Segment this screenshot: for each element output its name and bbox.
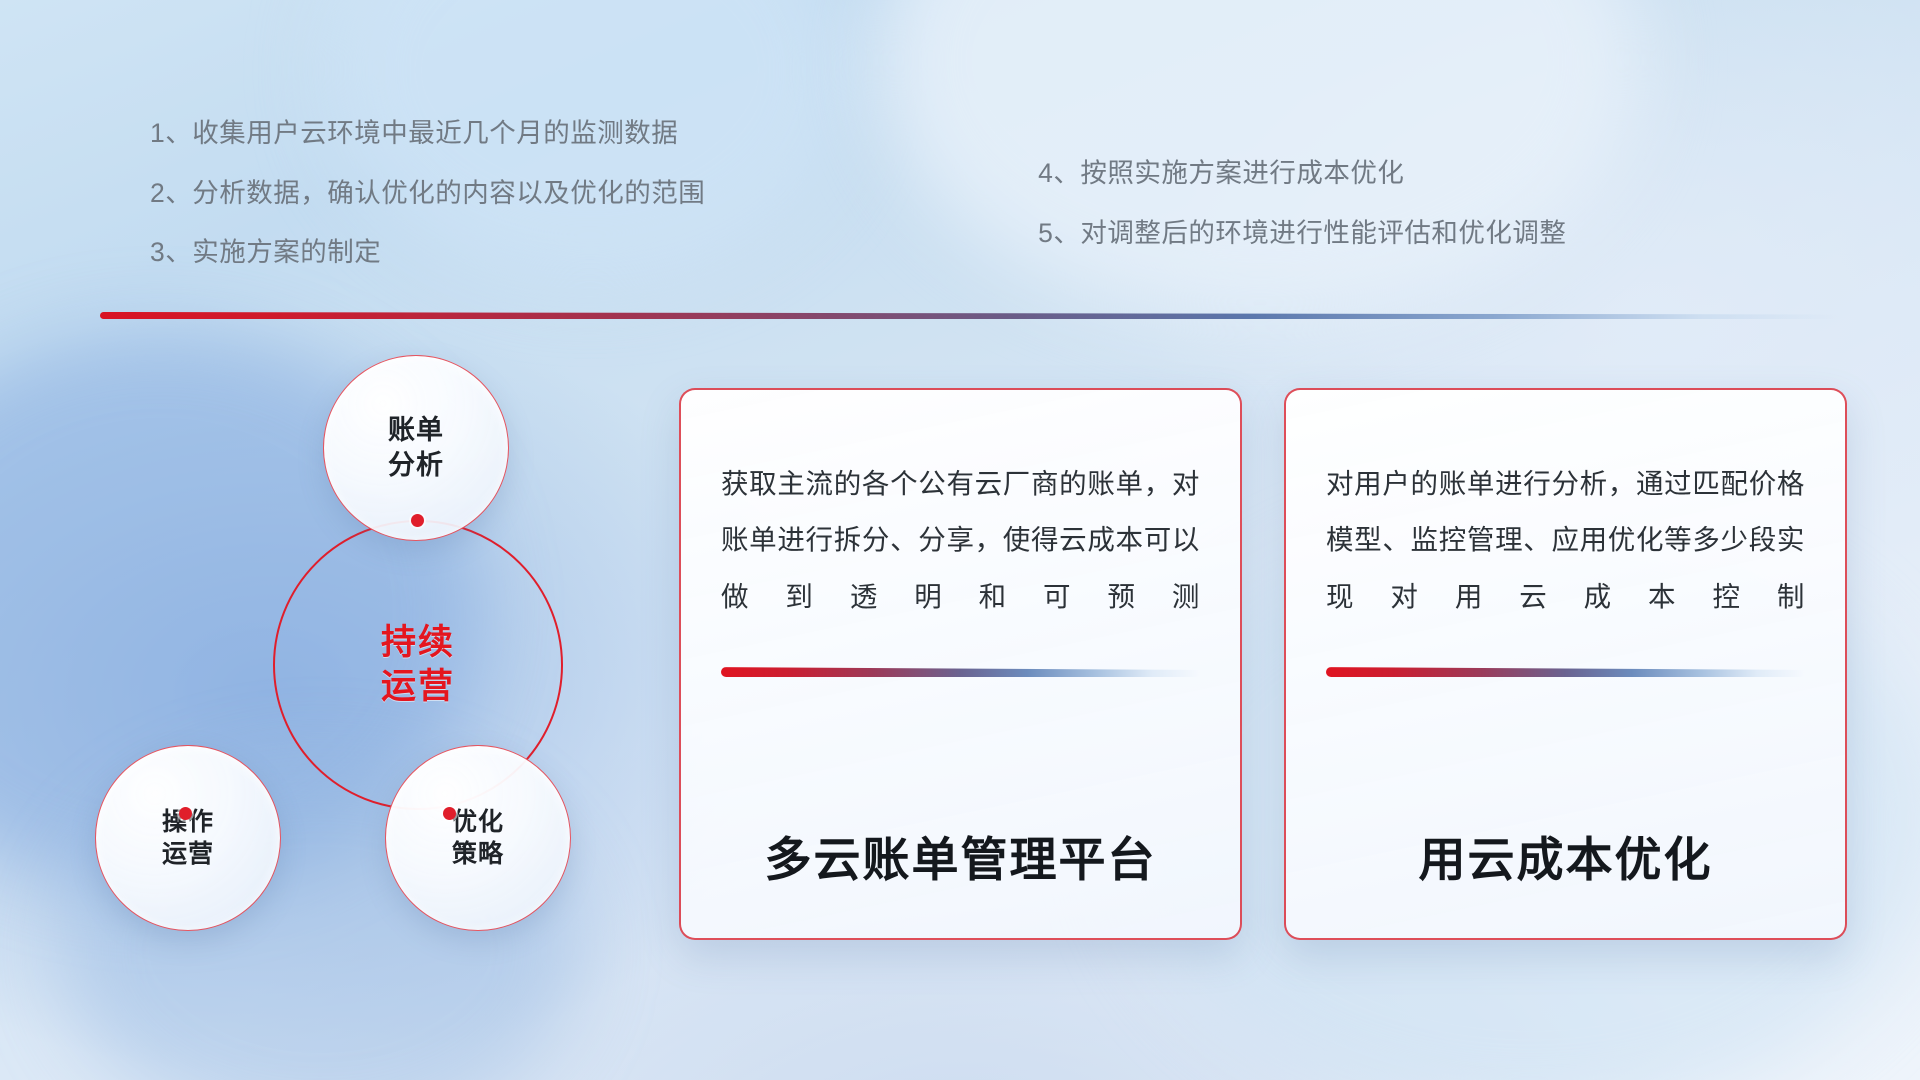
card-title: 多云账单管理平台 — [721, 821, 1200, 904]
card-divider — [1326, 667, 1805, 677]
bubble-label-line2: 分析 — [388, 448, 444, 483]
feature-card-cost-optimization[interactable]: 对用户的账单进行分析，通过匹配价格模型、监控管理、应用优化等多少段实现对用云成本… — [1284, 388, 1847, 940]
cycle-diagram: 持续 运营 账单 分析 操作 运营 优化 策略 — [95, 345, 615, 945]
bubble-label-line1: 优化 — [452, 806, 504, 838]
card-body-text: 获取主流的各个公有云厂商的账单，对账单进行拆分、分享，使得云成本可以做到透明和可… — [721, 456, 1200, 625]
steps-column-left: 1、收集用户云环境中最近几个月的监测数据 2、分析数据，确认优化的内容以及优化的… — [150, 120, 872, 299]
bubble-label-line2: 运营 — [162, 838, 214, 870]
diagram-node-dot — [179, 807, 192, 820]
center-label-line1: 持续 — [381, 621, 455, 665]
bubble-label-line1: 账单 — [388, 413, 444, 448]
slide-canvas: 1、收集用户云环境中最近几个月的监测数据 2、分析数据，确认优化的内容以及优化的… — [0, 0, 1920, 1080]
card-title: 用云成本优化 — [1326, 821, 1805, 904]
feature-card-multicloud-billing[interactable]: 获取主流的各个公有云厂商的账单，对账单进行拆分、分享，使得云成本可以做到透明和可… — [679, 388, 1242, 940]
center-label-line2: 运营 — [381, 665, 455, 709]
step-item: 5、对调整后的环境进行性能评估和优化调整 — [1038, 220, 1790, 247]
section-divider — [100, 312, 1840, 319]
diagram-node-dot — [411, 514, 424, 527]
step-item: 2、分析数据，确认优化的内容以及优化的范围 — [150, 180, 872, 207]
card-divider — [721, 667, 1200, 677]
bubble-label-line2: 策略 — [452, 838, 504, 870]
diagram-bubble-operations[interactable]: 操作 运营 — [95, 745, 281, 931]
diagram-node-dot — [443, 807, 456, 820]
steps-list: 1、收集用户云环境中最近几个月的监测数据 2、分析数据，确认优化的内容以及优化的… — [150, 120, 1790, 299]
diagram-bubble-optimization-strategy[interactable]: 优化 策略 — [385, 745, 571, 931]
step-item: 3、实施方案的制定 — [150, 239, 872, 266]
card-body-text: 对用户的账单进行分析，通过匹配价格模型、监控管理、应用优化等多少段实现对用云成本… — [1326, 456, 1805, 625]
step-item: 1、收集用户云环境中最近几个月的监测数据 — [150, 120, 872, 147]
step-item: 4、按照实施方案进行成本优化 — [1038, 160, 1790, 187]
steps-column-right: 4、按照实施方案进行成本优化 5、对调整后的环境进行性能评估和优化调整 — [908, 120, 1790, 299]
